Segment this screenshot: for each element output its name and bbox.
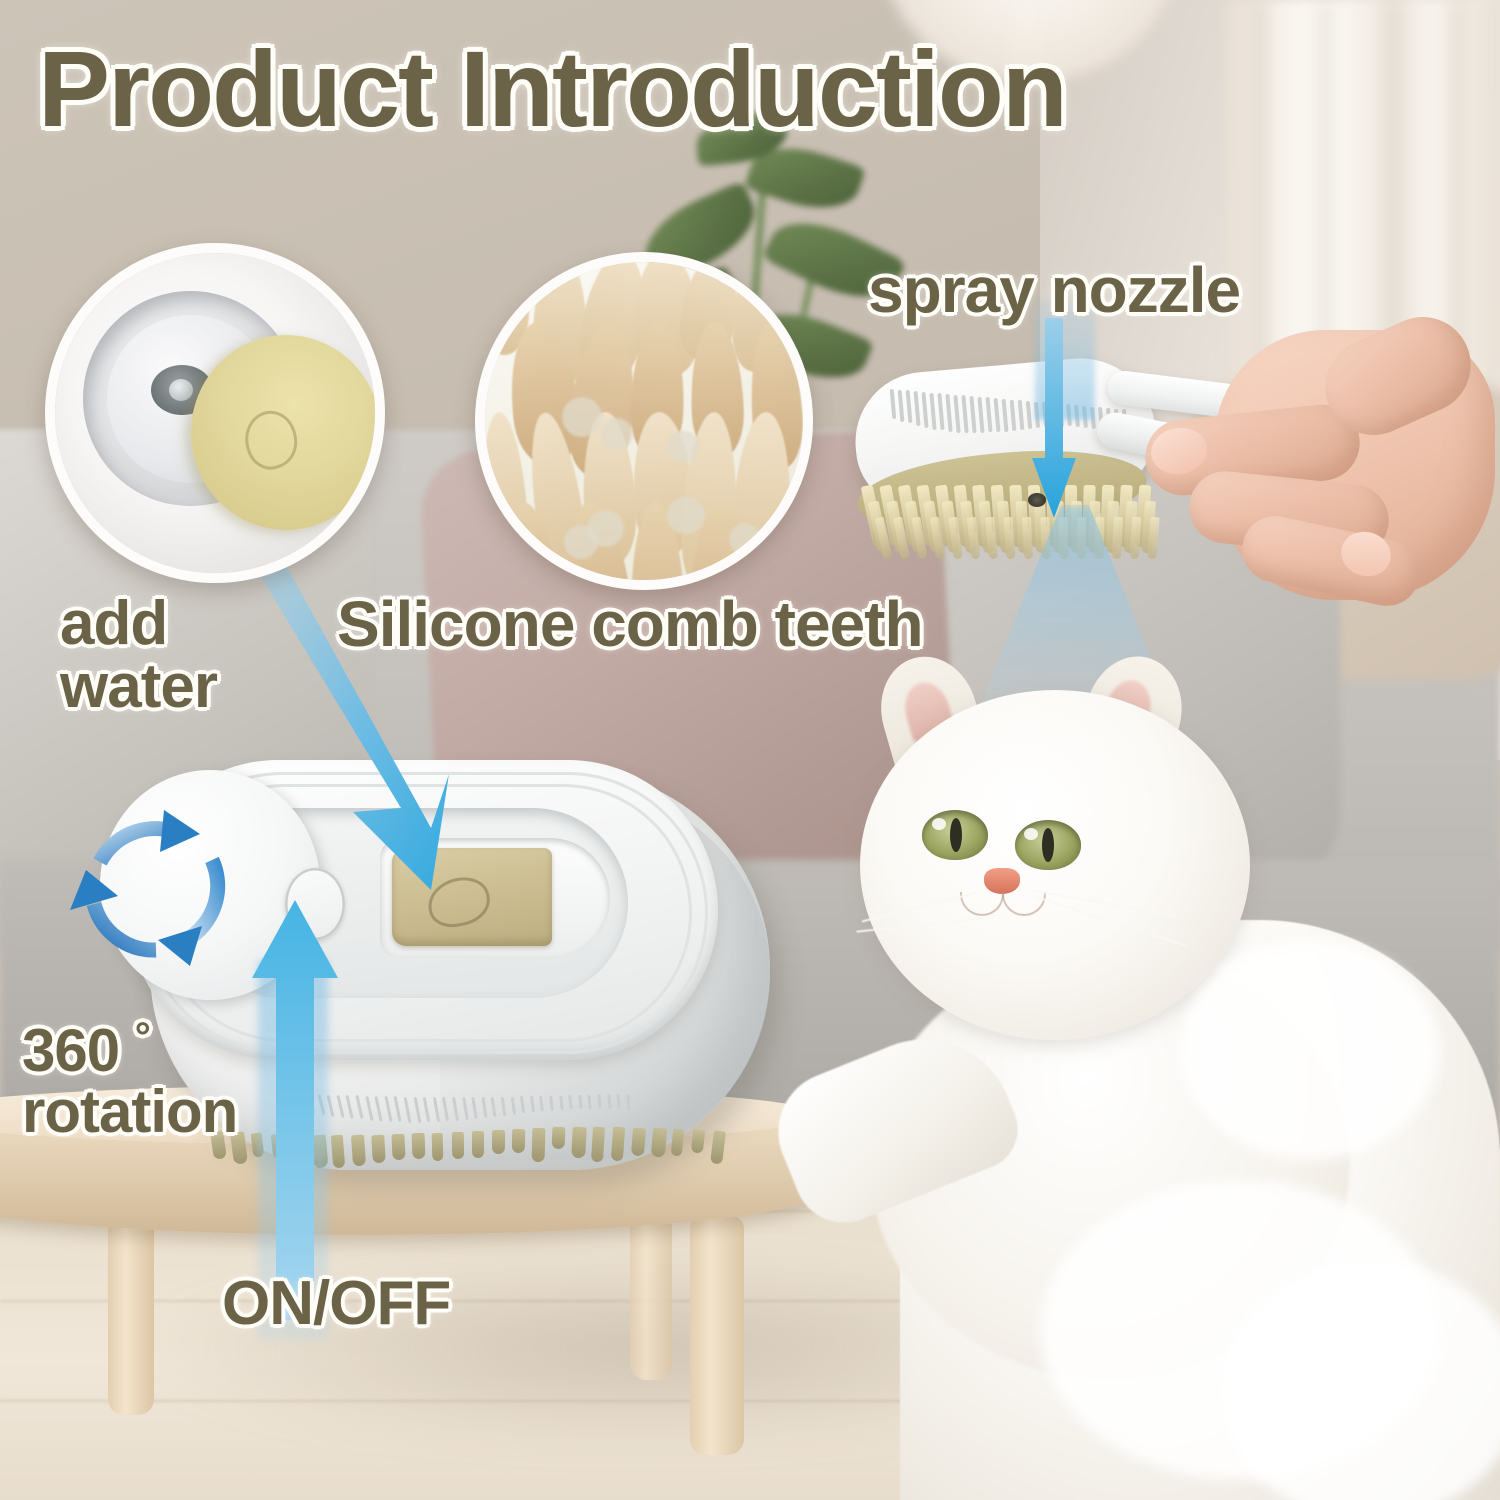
- brush-bristle: [432, 1132, 444, 1161]
- brush-bristle: [371, 1134, 385, 1163]
- infographic-canvas: Product Introduction spray nozzle add wa…: [0, 0, 1500, 1500]
- label-add-water: add water: [60, 592, 217, 718]
- vent-slot: [539, 1096, 544, 1112]
- brush-bristle: [512, 1129, 525, 1153]
- brush-bristle: [391, 1134, 405, 1161]
- label-rotation-number: 360: [22, 1017, 119, 1084]
- brush-bristle: [691, 1129, 705, 1153]
- label-add-water-line1: add: [60, 589, 167, 658]
- brush-bristle: [631, 1127, 647, 1156]
- brush-bristle: [591, 1127, 605, 1162]
- brush-bristle: [651, 1128, 667, 1158]
- vent-slot: [375, 1096, 383, 1122]
- spray-nozzle-arrow: [1032, 318, 1076, 518]
- vent-slot: [578, 1095, 582, 1109]
- page-title: Product Introduction: [38, 34, 1066, 144]
- vent-slot: [617, 1094, 621, 1109]
- vent-slot: [413, 1097, 421, 1123]
- table-leg-right: [690, 1215, 744, 1455]
- vent-slot: [481, 1097, 487, 1118]
- comb-teeth-inset-image: [485, 262, 803, 580]
- comb-teeth-inset: [475, 252, 813, 590]
- cat-nose: [984, 868, 1020, 894]
- cat-eye-highlight-right: [1024, 828, 1038, 840]
- label-rotation-word: rotation: [22, 1078, 237, 1145]
- on-off-arrow: [240, 900, 350, 1320]
- vent-slot: [491, 1097, 497, 1117]
- vent-slot: [433, 1097, 440, 1122]
- brush-bristle: [671, 1128, 685, 1156]
- water-tank-inset: [45, 243, 385, 583]
- vent-slot: [568, 1095, 572, 1109]
- handheld-bristle: [1112, 517, 1123, 559]
- vent-slot: [452, 1097, 459, 1121]
- brush-bristle: [611, 1127, 626, 1162]
- vent-slot: [597, 1094, 601, 1108]
- vent-slot: [588, 1095, 592, 1109]
- vent-slot: [510, 1096, 515, 1114]
- vent-slot: [384, 1096, 392, 1122]
- rotation-arrow-svg: [60, 800, 260, 990]
- handheld-bristle: [1130, 517, 1141, 559]
- brush-bristle: [492, 1130, 505, 1155]
- rotation-arrows: [60, 800, 260, 990]
- vent-slot: [472, 1097, 478, 1119]
- vent-slot: [626, 1094, 630, 1110]
- brush-bristle: [710, 1130, 726, 1165]
- label-360-rotation: 360 ° rotation: [22, 1017, 237, 1142]
- vent-slot: [462, 1097, 469, 1120]
- vent-slot: [549, 1096, 554, 1111]
- brush-bristle: [532, 1128, 546, 1163]
- degree-symbol: °: [135, 1015, 150, 1059]
- vent-slot: [394, 1096, 402, 1122]
- cat-fur-wisp: [1180, 940, 1440, 1160]
- cat-eye-highlight-left: [932, 818, 946, 830]
- vent-slot: [442, 1097, 449, 1121]
- base-dimple: [667, 497, 704, 534]
- label-silicone-comb-teeth: Silicone comb teeth: [337, 592, 923, 657]
- base-dimple: [601, 418, 632, 449]
- brush-bristle: [472, 1131, 484, 1158]
- vent-slot: [559, 1095, 564, 1110]
- vent-slot: [404, 1096, 412, 1122]
- vent-slot: [530, 1096, 535, 1112]
- label-on-off: ON/OFF: [222, 1272, 450, 1335]
- vent-slot: [520, 1096, 525, 1113]
- base-dimple: [562, 397, 602, 437]
- vent-slot: [365, 1096, 373, 1121]
- hand-holding-brush: [1145, 320, 1500, 650]
- base-dimple: [587, 510, 624, 547]
- brush-bristle: [571, 1127, 586, 1158]
- cat-pupil-right: [1042, 828, 1054, 862]
- water-tank-inset-image: [55, 253, 375, 573]
- brush-bristle: [351, 1135, 366, 1166]
- brush-bristle: [452, 1131, 464, 1158]
- cat-pupil-left: [950, 818, 962, 852]
- white-cat: [800, 620, 1500, 1500]
- label-spray-nozzle: spray nozzle: [868, 258, 1240, 323]
- vent-slot: [501, 1097, 507, 1116]
- vent-slot: [423, 1097, 431, 1123]
- brush-bristle: [412, 1133, 425, 1159]
- brush-bristle: [552, 1127, 566, 1150]
- vent-slot: [607, 1094, 611, 1109]
- label-add-water-line2: water: [60, 652, 217, 721]
- vent-slot: [355, 1095, 363, 1120]
- base-dimple: [667, 431, 698, 462]
- table-leg-left: [108, 1215, 154, 1415]
